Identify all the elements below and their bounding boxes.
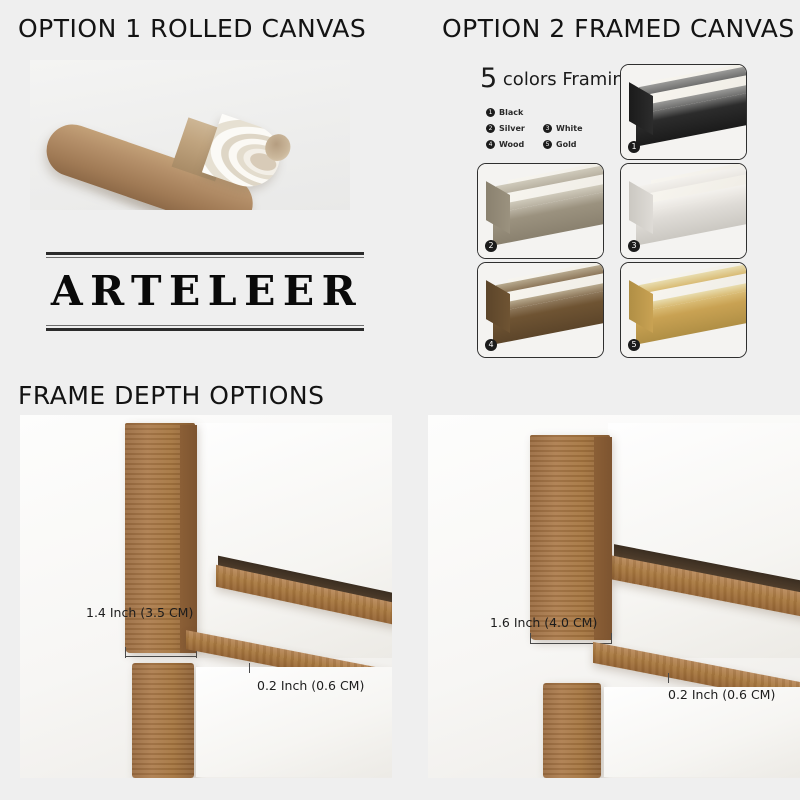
legend-label: Silver (499, 124, 525, 133)
color-legend: 1 Black 2 Silver 3 White 4 Wood 5 Gold (486, 108, 606, 156)
legend-item-white: 3 White (543, 124, 600, 133)
frame-lower-corner (543, 683, 601, 778)
brand-rule-bottom (46, 325, 364, 331)
swatch-number-badge: 4 (485, 339, 497, 351)
thickness-dimension-label: 0.2 Inch (0.6 CM) (257, 678, 364, 693)
legend-label: Wood (499, 140, 524, 149)
frame-lower-corner (132, 663, 194, 778)
legend-label: Gold (556, 140, 577, 149)
dimension-tick (611, 633, 612, 644)
legend-label: Black (499, 108, 523, 117)
legend-label: White (556, 124, 583, 133)
frame-swatch-gold[interactable]: 5 (620, 262, 747, 358)
legend-row: 2 Silver 3 White (486, 124, 606, 133)
swatch-number-badge: 2 (485, 240, 497, 252)
frame-swatch-wood[interactable]: 4 (477, 262, 604, 358)
legend-badge-icon: 5 (543, 140, 552, 149)
canvas-panel (608, 423, 800, 658)
thickness-tick (668, 673, 669, 683)
depth-dimension-label: 1.6 Inch (4.0 CM) (490, 615, 597, 630)
legend-badge-icon: 3 (543, 124, 552, 133)
legend-row: 1 Black (486, 108, 606, 117)
swatch-number-badge: 5 (628, 339, 640, 351)
dimension-line (125, 656, 196, 657)
frame-swatch-black[interactable]: 1 (620, 64, 747, 160)
legend-item-silver: 2 Silver (486, 124, 543, 133)
swatch-number-badge: 3 (628, 240, 640, 252)
canvas-panel (190, 423, 392, 658)
frame-swatch-white[interactable]: 3 (620, 163, 747, 259)
legend-item-wood: 4 Wood (486, 140, 543, 149)
framing-title-text: colors Framing (497, 69, 635, 90)
framing-title: 5 colors Framing (480, 63, 635, 94)
legend-badge-icon: 2 (486, 124, 495, 133)
depth-dimension-label: 1.4 Inch (3.5 CM) (86, 605, 193, 620)
brand-block: ARTELEER (46, 252, 364, 331)
legend-badge-icon: 1 (486, 108, 495, 117)
frame-depth-photo-right: 1.6 Inch (4.0 CM) 0.2 Inch (0.6 CM) (428, 415, 800, 778)
legend-item-gold: 5 Gold (543, 140, 600, 149)
frame-vertical-bar-side (594, 437, 612, 640)
brand-name: ARTELEER (46, 258, 364, 325)
swatch-number-badge: 1 (628, 141, 640, 153)
legend-row: 4 Wood 5 Gold (486, 140, 606, 149)
option2-heading: OPTION 2 FRAMED CANVAS (442, 14, 795, 43)
product-infographic: OPTION 1 ROLLED CANVAS ARTELEER OPTION 2… (0, 0, 800, 800)
thickness-tick (249, 663, 250, 673)
frame-depth-heading: FRAME DEPTH OPTIONS (18, 381, 324, 410)
thickness-dimension-label: 0.2 Inch (0.6 CM) (668, 687, 775, 702)
option1-heading: OPTION 1 ROLLED CANVAS (18, 14, 366, 43)
legend-item-black: 1 Black (486, 108, 543, 117)
framing-count: 5 (480, 63, 497, 94)
rolled-canvas-photo (30, 60, 350, 210)
frame-depth-photo-left: 1.4 Inch (3.5 CM) 0.2 Inch (0.6 CM) (20, 415, 392, 778)
legend-badge-icon: 4 (486, 140, 495, 149)
frame-swatch-silver[interactable]: 2 (477, 163, 604, 259)
